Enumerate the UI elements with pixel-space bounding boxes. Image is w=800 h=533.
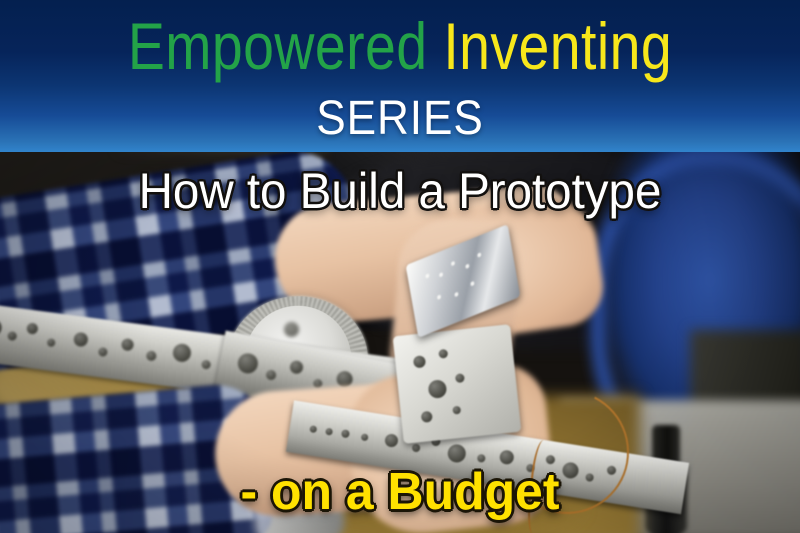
- photo-beam-hole: [309, 425, 317, 433]
- photo-beam-hole: [412, 443, 421, 452]
- title-banner: Empowered Inventing SERIES: [0, 0, 800, 152]
- series-label: SERIES: [32, 95, 768, 143]
- photo-beam-hole: [325, 428, 333, 436]
- photo-beam-hole: [7, 331, 17, 341]
- photo-beam-hole: [121, 338, 134, 351]
- photo-beam-hole: [477, 454, 486, 463]
- photo-beam-hole: [446, 443, 467, 464]
- brand-title-part1: Empowered: [128, 9, 428, 83]
- photo-beam-hole: [341, 429, 350, 438]
- subline-text: - on a Budget: [16, 463, 784, 521]
- photo-beam-hole: [47, 338, 56, 347]
- photo-beam-hole: [26, 322, 38, 334]
- photo-plate-hole: [413, 355, 426, 368]
- photo-beam-hole: [265, 369, 277, 381]
- photo-beam-hole: [172, 343, 192, 363]
- photo-beam-hole: [146, 350, 157, 361]
- photo-beam-hole: [384, 433, 399, 448]
- photo-beam-hole: [361, 433, 369, 441]
- photo-plate-hole: [428, 379, 448, 399]
- photo-plate-hole: [421, 411, 433, 423]
- video-thumbnail: Empowered Inventing SERIES How to Build …: [0, 0, 800, 533]
- headline-text: How to Build a Prototype: [20, 163, 780, 219]
- photo-beam-hole: [236, 352, 259, 375]
- brand-title-part2: Inventing: [443, 9, 672, 83]
- photo-bracket-plate: [393, 324, 522, 444]
- photo-beam-hole: [98, 347, 108, 357]
- photo-plate-hole: [438, 349, 448, 359]
- brand-title: Empowered Inventing: [64, 13, 736, 79]
- photo-plate-hole: [455, 373, 465, 383]
- photo-beam-hole: [0, 318, 3, 337]
- photo-plate-hole: [452, 406, 461, 415]
- photo-beam-hole: [201, 360, 211, 370]
- photo-beam-hole: [73, 332, 89, 348]
- photo-beam-hole: [289, 360, 304, 375]
